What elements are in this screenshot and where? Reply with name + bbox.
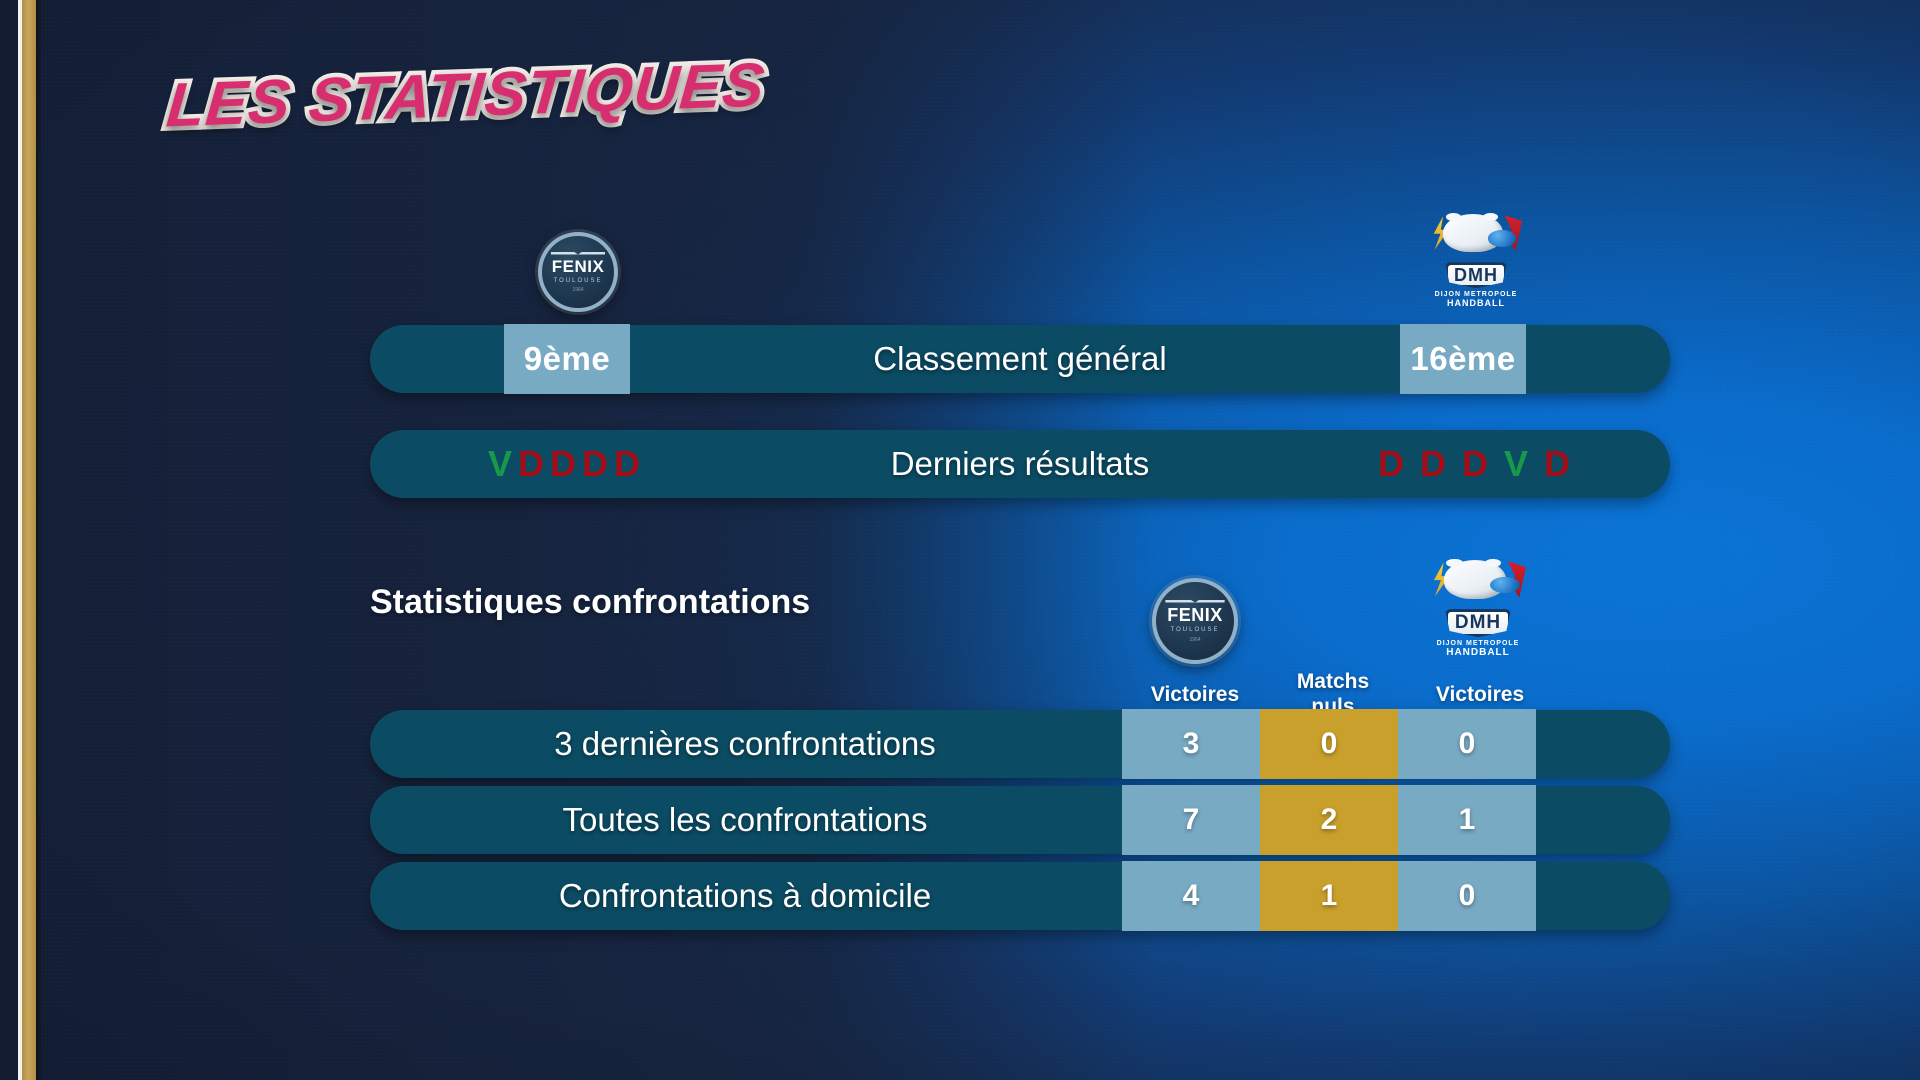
dmh-shield: DMH <box>1445 262 1507 288</box>
dmh-abbr-label-stats: DMH <box>1455 612 1501 634</box>
result-letter: D <box>1462 443 1488 485</box>
confrontation-row-label: Toutes les confrontations <box>370 786 1120 854</box>
dmh-abbr-label: DMH <box>1454 265 1498 286</box>
result-letter: D <box>582 443 608 485</box>
result-letter: V <box>488 443 512 485</box>
result-letter: D <box>1378 443 1404 485</box>
dmh-shield-stats: DMH <box>1445 609 1511 637</box>
column-header-draws-line1: Matchs <box>1278 670 1388 695</box>
dmh-bear-ear-left-stats <box>1446 559 1462 567</box>
left-edge-gold-stripe <box>22 0 36 1080</box>
home-wins-cell: 7 <box>1122 785 1260 855</box>
home-ranking-badge: 9ème <box>504 324 630 394</box>
result-letter: D <box>614 443 640 485</box>
draws-cell: 1 <box>1260 861 1398 931</box>
dmh-subtitle-line2: HANDBALL <box>1447 299 1505 308</box>
home-last-results: VDDDD <box>488 430 640 498</box>
fenix-crest-name-stats: FENIX <box>1167 606 1223 624</box>
dmh-crest-icon-stats: DMH DIJON METROPOLE HANDBALL <box>1428 558 1528 658</box>
away-wins-cell: 1 <box>1398 785 1536 855</box>
column-header-away-wins: Victoires <box>1415 683 1545 708</box>
fenix-crest-icon-stats: FENIX TOULOUSE 1964 <box>1152 578 1238 664</box>
dmh-bear-artwork <box>1428 212 1524 266</box>
home-wins-cell: 3 <box>1122 709 1260 779</box>
result-letter: D <box>518 443 544 485</box>
home-wins-cell: 4 <box>1122 861 1260 931</box>
fenix-crest-city: TOULOUSE <box>554 278 603 284</box>
result-letter: D <box>1544 443 1570 485</box>
dmh-bear-ear-right <box>1483 213 1498 221</box>
result-letter: D <box>1420 443 1446 485</box>
fenix-crest-city-stats: TOULOUSE <box>1171 627 1220 633</box>
left-edge-shadow <box>36 0 42 1080</box>
dmh-bear-artwork-stats <box>1428 558 1528 613</box>
away-ranking-badge: 16ème <box>1400 324 1526 394</box>
draws-cell: 0 <box>1260 709 1398 779</box>
fenix-crest-year-stats: 1964 <box>1189 638 1200 643</box>
left-edge-dark-band <box>0 0 18 1080</box>
dmh-bear-ear-left <box>1446 213 1461 221</box>
draws-cell: 2 <box>1260 785 1398 855</box>
dmh-crest-icon: DMH DIJON METROPOLE HANDBALL <box>1428 212 1524 308</box>
fenix-crest-icon: FENIX TOULOUSE 1964 <box>538 232 618 312</box>
fenix-wing-mark-stats <box>1165 600 1224 603</box>
dmh-bear-ear-right-stats <box>1485 559 1501 567</box>
fenix-crest-name: FENIX <box>552 258 605 275</box>
fenix-crest-year: 1964 <box>572 288 583 293</box>
dmh-subtitle-line2-stats: HANDBALL <box>1446 648 1510 659</box>
confrontation-row-label: Confrontations à domicile <box>370 862 1120 930</box>
away-last-results: DDDVD <box>1378 430 1570 498</box>
confrontations-title: Statistiques confrontations <box>370 583 810 622</box>
away-wins-cell: 0 <box>1398 861 1536 931</box>
away-wins-cell: 0 <box>1398 709 1536 779</box>
dmh-handball-icon <box>1488 230 1517 246</box>
fenix-wing-mark <box>551 252 606 255</box>
result-letter: D <box>550 443 576 485</box>
result-letter: V <box>1504 443 1528 485</box>
column-header-home-wins: Victoires <box>1140 683 1250 708</box>
confrontation-row-label: 3 dernières confrontations <box>370 710 1120 778</box>
